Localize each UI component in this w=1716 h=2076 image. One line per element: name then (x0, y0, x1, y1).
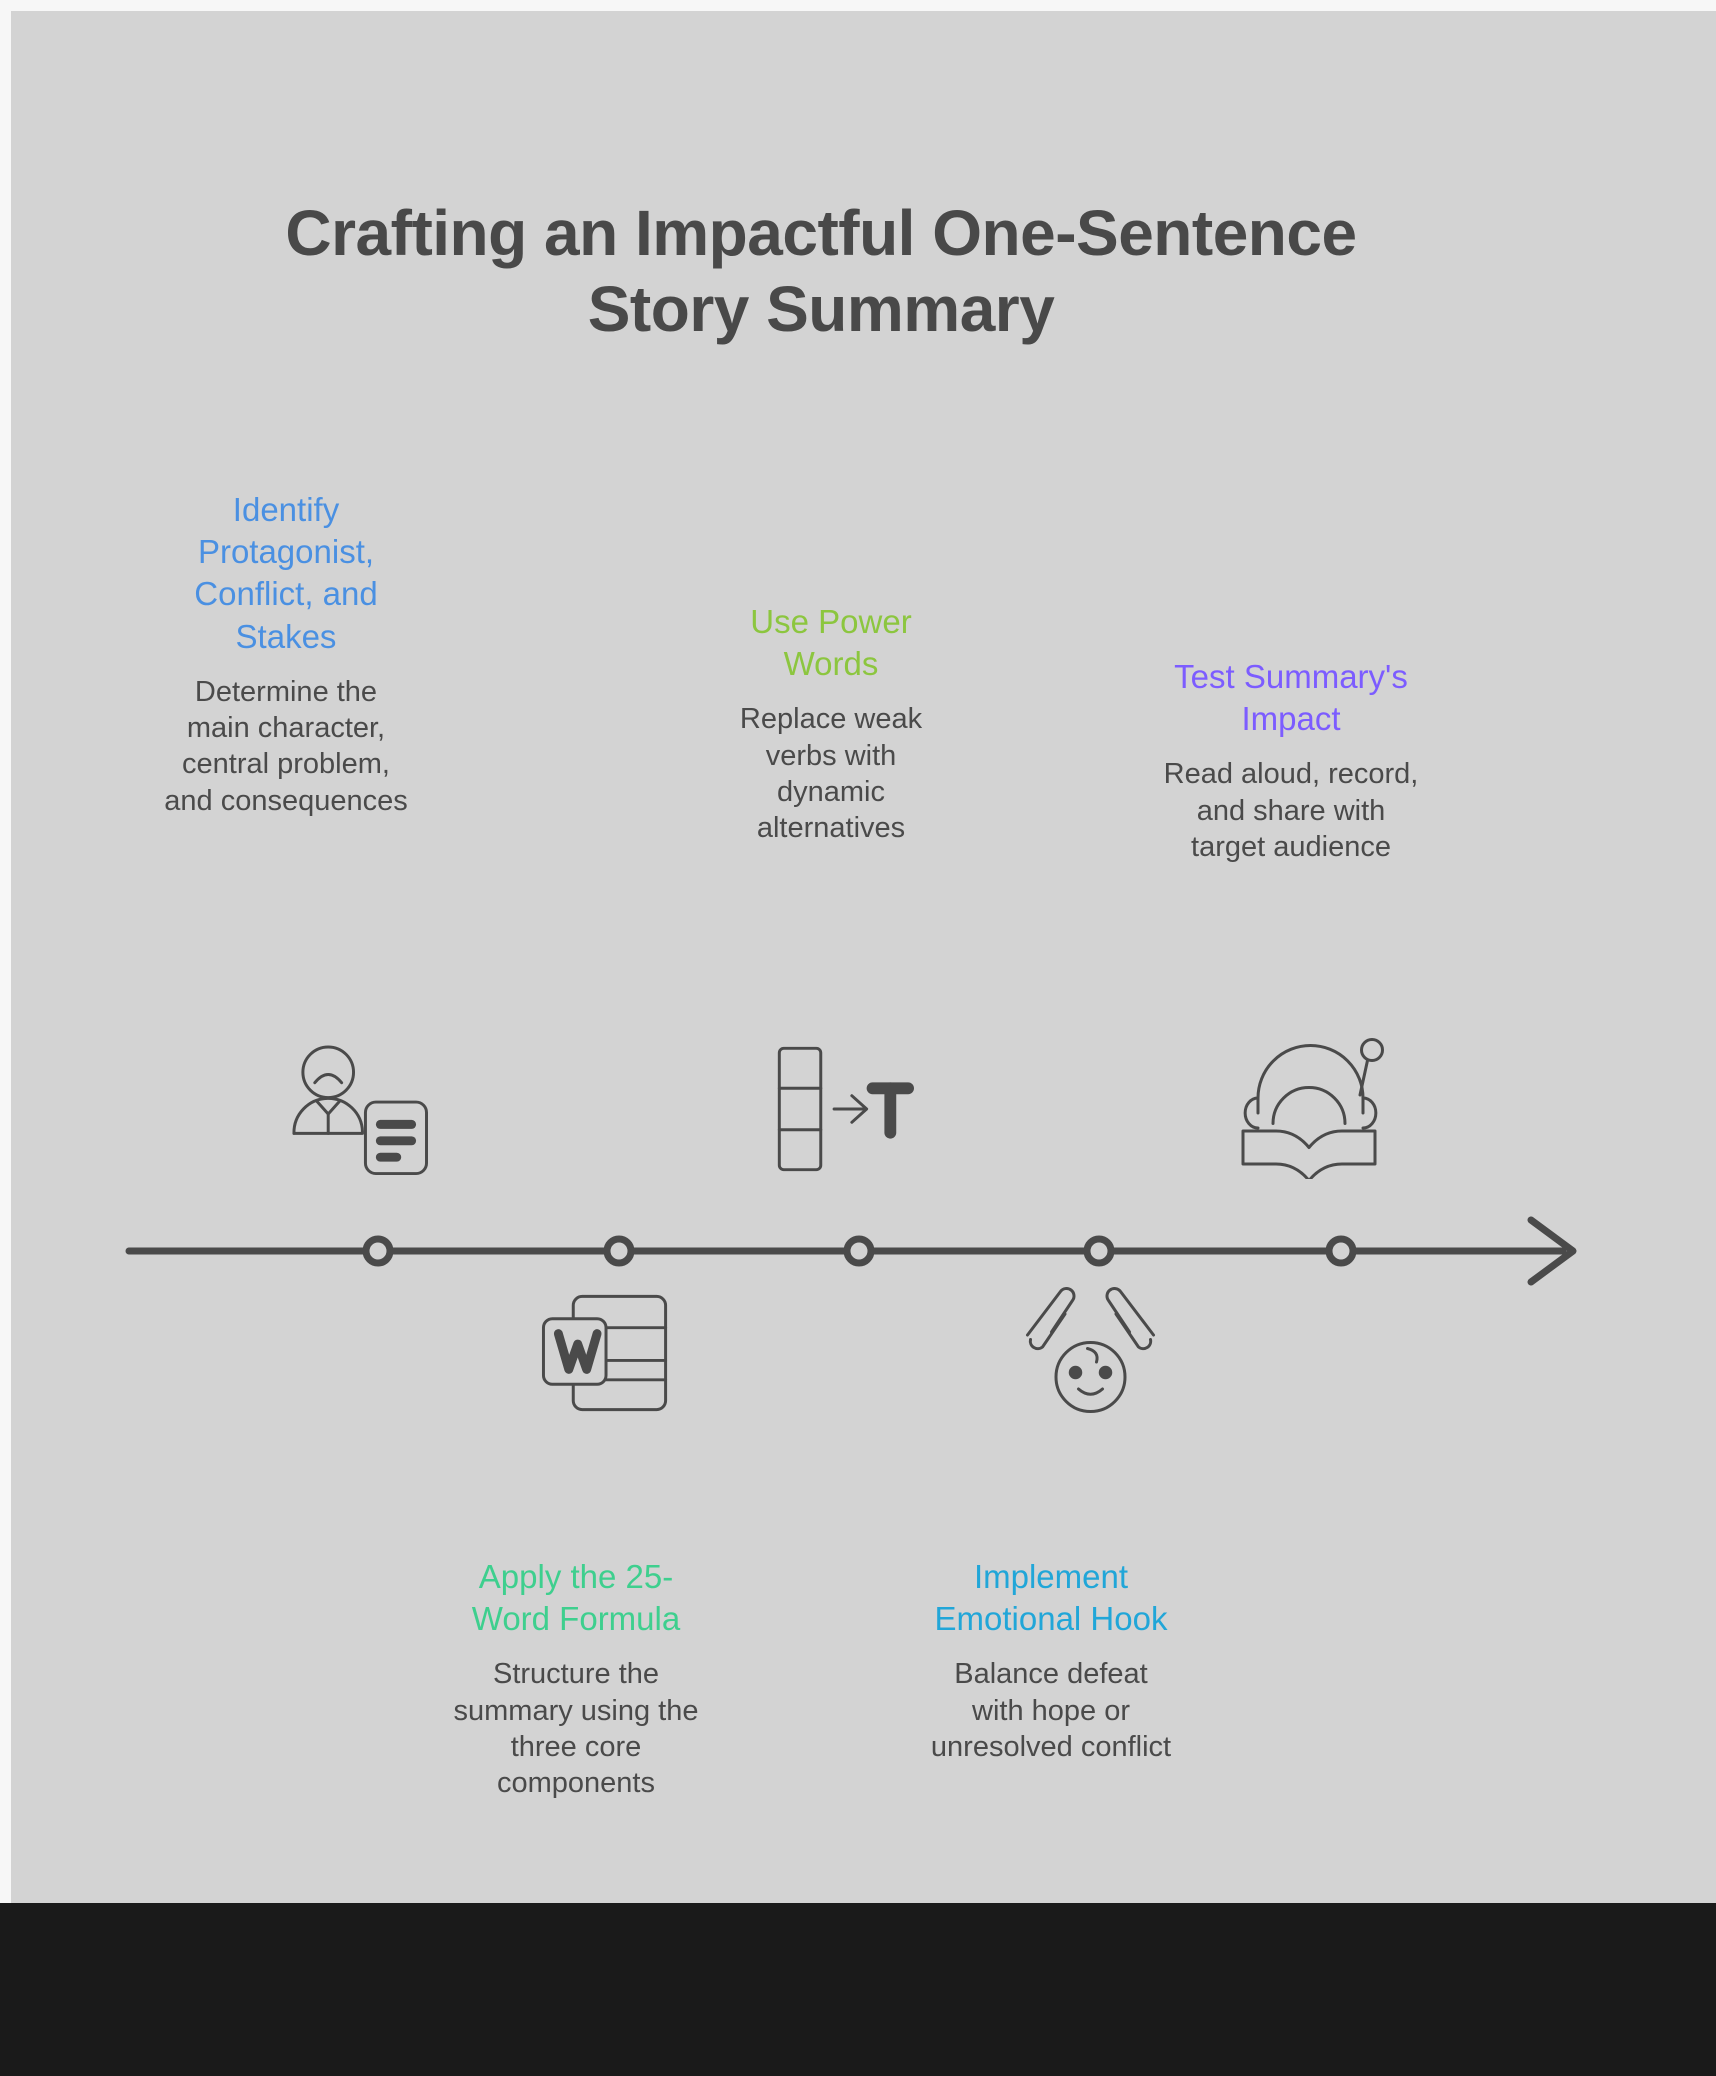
icon-wrapper-identify-protagonist (283, 1041, 433, 1186)
step-title-use-power-words: Use Power Words (711, 601, 951, 685)
step-description-identify-protagonist: Determine the main character, central pr… (151, 674, 421, 819)
person-document-icon (283, 1041, 433, 1181)
step-title-apply-formula: Apply the 25- Word Formula (426, 1556, 726, 1640)
step-description-implement-emotional-hook: Balance defeat with hope or unresolved c… (901, 1656, 1201, 1765)
bottom-bar (0, 1903, 1716, 2076)
step-title-test-summary-impact: Test Summary's Impact (1141, 656, 1441, 740)
timeline-node-3[interactable] (847, 1239, 871, 1263)
timeline-node-4[interactable] (1087, 1239, 1111, 1263)
page-title: Crafting an Impactful One-Sentence Story… (161, 196, 1481, 347)
step-block-apply-formula: Apply the 25- Word Formula Structure the… (426, 1556, 726, 1801)
timeline-node-2[interactable] (607, 1239, 631, 1263)
step-title-identify-protagonist: Identify Protagonist, Conflict, and Stak… (151, 489, 421, 658)
step-title-implement-emotional-hook: Implement Emotional Hook (901, 1556, 1201, 1640)
column-to-text-icon (766, 1039, 914, 1179)
word-document-icon (534, 1283, 684, 1423)
infographic-canvas: Crafting an Impactful One-Sentence Story… (11, 11, 1716, 1903)
step-description-use-power-words: Replace weak verbs with dynamic alternat… (711, 701, 951, 846)
step-block-implement-emotional-hook: Implement Emotional Hook Balance defeat … (901, 1556, 1201, 1765)
step-description-apply-formula: Structure the summary using the three co… (426, 1656, 726, 1801)
icon-wrapper-use-power-words (766, 1039, 914, 1184)
timeline-node-5[interactable] (1329, 1239, 1353, 1263)
step-block-test-summary-impact: Test Summary's Impact Read aloud, record… (1141, 656, 1441, 865)
child-face-hands-icon (1013, 1269, 1168, 1419)
icon-wrapper-test-summary-impact (1233, 1029, 1391, 1184)
step-description-test-summary-impact: Read aloud, record, and share with targe… (1141, 756, 1441, 865)
audiobook-headphones-icon (1233, 1029, 1391, 1179)
icon-wrapper-apply-formula (534, 1283, 684, 1428)
step-block-identify-protagonist: Identify Protagonist, Conflict, and Stak… (151, 489, 421, 819)
timeline-node-1[interactable] (366, 1239, 390, 1263)
icon-wrapper-implement-emotional-hook (1013, 1269, 1168, 1424)
step-block-use-power-words: Use Power Words Replace weak verbs with … (711, 601, 951, 846)
timeline-axis (11, 1196, 1716, 1316)
